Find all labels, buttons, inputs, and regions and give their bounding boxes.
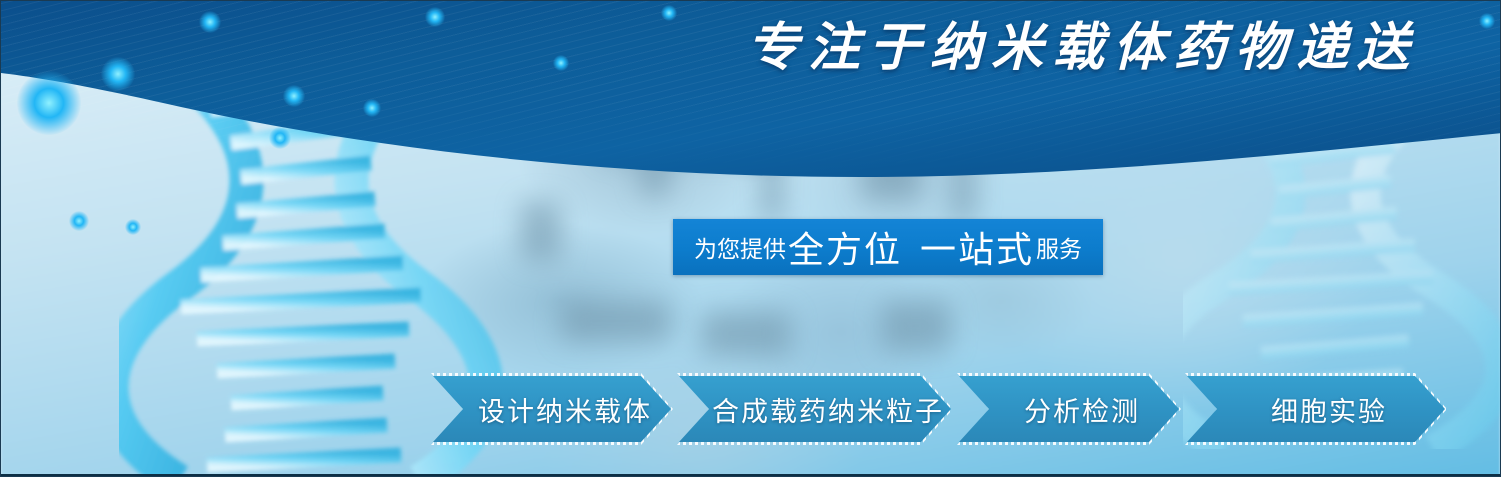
headline-title: 专注于纳米载体药物递送 [747,23,1418,75]
nano-drug-delivery-banner: 专注于纳米载体药物递送 为您提供 全方位 一站式 服务 设计纳米载体 合成载药纳… [0,0,1501,477]
process-steps: 设计纳米载体 合成载药纳米粒子 分析检测 细胞实验 [1,376,1501,446]
step-chevron-design-nanocarrier[interactable]: 设计纳米载体 [433,376,671,442]
step-chevron-analysis-detection[interactable]: 分析检测 [959,376,1179,442]
slogan-emphasis-1: 全方位 [786,221,904,273]
slogan-suffix: 服务 [1036,230,1082,264]
bottom-edge [1,474,1501,476]
slogan-prefix: 为您提供 [694,230,786,264]
slogan-box: 为您提供 全方位 一站式 服务 [673,219,1103,275]
step-chevron-synthesize-drug-loaded-nanoparticles[interactable]: 合成载药纳米粒子 [679,376,951,442]
slogan-emphasis-2: 一站式 [918,221,1036,273]
step-chevron-cell-experiment[interactable]: 细胞实验 [1187,376,1445,442]
